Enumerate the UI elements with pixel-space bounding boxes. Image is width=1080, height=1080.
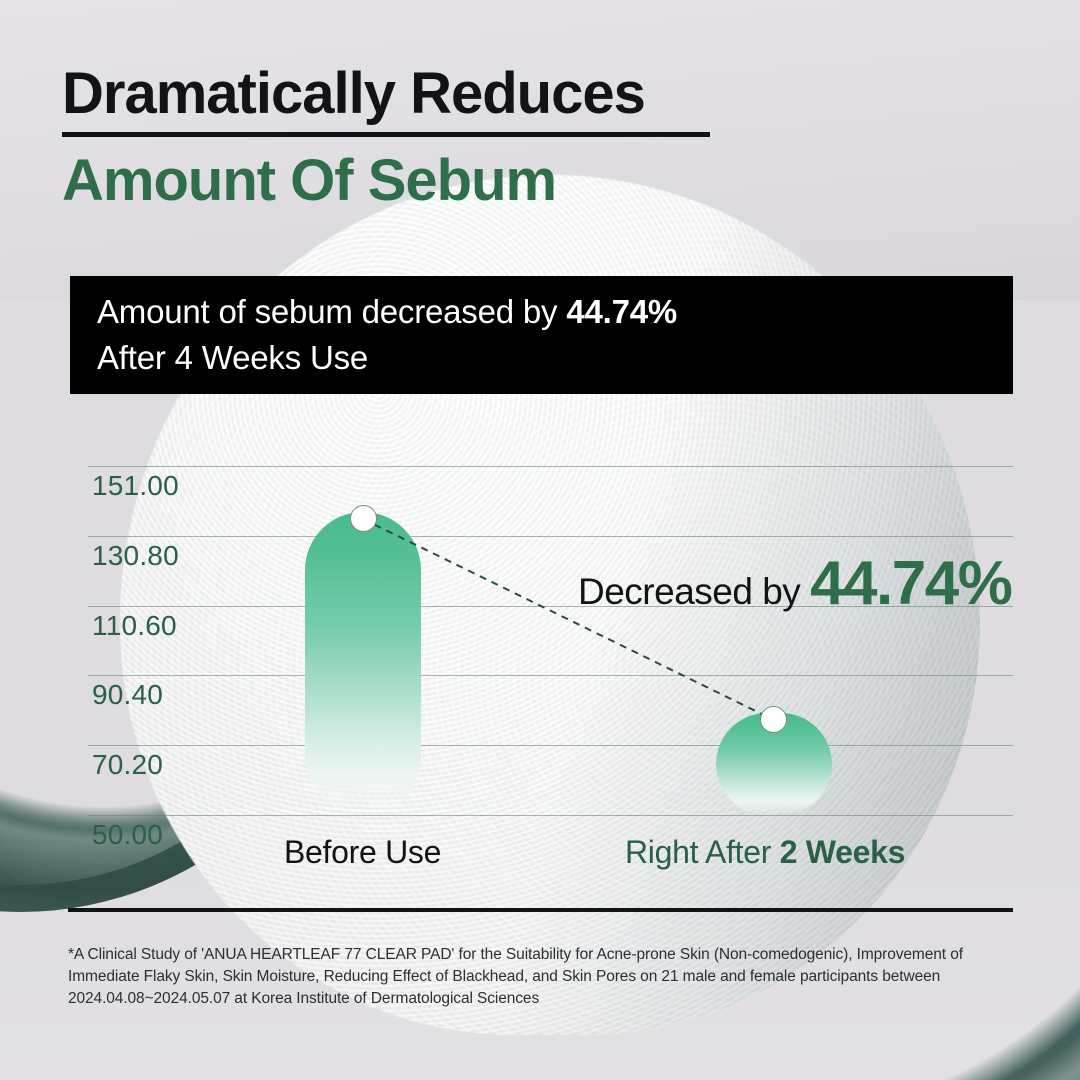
footer-divider <box>68 908 1013 912</box>
x-axis-label-2-prefix: Right After <box>625 834 780 870</box>
y-tick-label-0: 151.00 <box>92 470 179 502</box>
bar-before-use <box>305 512 421 815</box>
gridline-151 <box>88 466 1013 467</box>
decrease-annotation-prefix: Decreased by <box>578 571 810 612</box>
y-tick-label-1: 130.80 <box>92 540 179 572</box>
infographic-page: Dramatically Reduces Amount Of Sebum Amo… <box>0 0 1080 1080</box>
x-axis-label-2-bold: 2 Weeks <box>780 834 905 870</box>
sebum-bar-chart: 151.00 130.80 110.60 90.40 70.20 50.00 D… <box>0 0 1080 1080</box>
gridline-130 <box>88 536 1013 537</box>
footnote-text: *A Clinical Study of 'ANUA HEARTLEAF 77 … <box>68 944 1018 1010</box>
x-axis-label-before-use: Before Use <box>284 834 441 871</box>
bar-before-use-fill <box>305 512 421 815</box>
y-tick-label-2: 110.60 <box>92 610 177 642</box>
x-axis-label-right-after-2-weeks: Right After 2 Weeks <box>625 834 905 871</box>
gridline-90 <box>88 675 1013 676</box>
y-tick-label-5: 50.00 <box>92 819 163 851</box>
data-point-marker-before-use <box>350 505 377 532</box>
y-tick-label-4: 70.20 <box>92 749 163 781</box>
y-tick-label-3: 90.40 <box>92 679 163 711</box>
data-point-marker-right-after-2-weeks <box>760 706 787 733</box>
gridline-50 <box>88 815 1013 816</box>
decrease-annotation: Decreased by 44.74% <box>578 548 1011 619</box>
gridline-70 <box>88 745 1013 746</box>
decrease-annotation-value: 44.74% <box>810 549 1011 618</box>
